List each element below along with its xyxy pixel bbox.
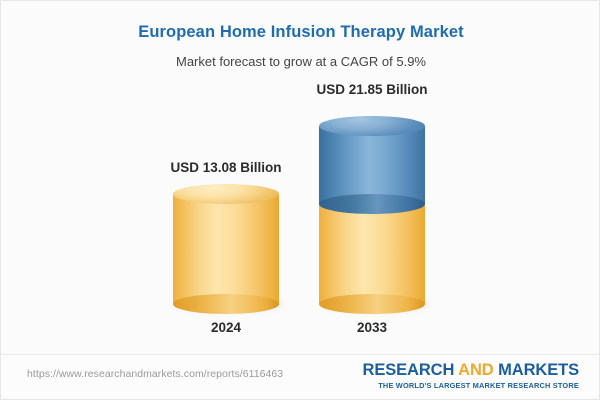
logo-wordmark: RESEARCH AND MARKETS bbox=[363, 361, 580, 380]
bar-segment-growth-2033[interactable] bbox=[319, 126, 425, 204]
logo-word-research: RESEARCH bbox=[363, 361, 455, 379]
bar-value-label-2024: USD 13.08 Billion bbox=[170, 160, 281, 175]
cylinder-bottom-ellipse bbox=[319, 194, 425, 214]
cylinder-top-ellipse bbox=[319, 116, 425, 136]
category-label-2033: 2033 bbox=[357, 320, 387, 335]
plot-area: USD 13.08 Billion 2024 USD 21.85 Billion bbox=[1, 1, 600, 356]
cylinder-bottom-ellipse bbox=[319, 294, 425, 314]
bar-value-label-2033: USD 21.85 Billion bbox=[316, 82, 427, 97]
brand-logo[interactable]: RESEARCH AND MARKETS THE WORLD'S LARGEST… bbox=[363, 361, 580, 390]
footer: https://www.researchandmarkets.com/repor… bbox=[1, 354, 600, 399]
cylinder-body bbox=[319, 204, 425, 304]
logo-word-and: AND bbox=[454, 361, 498, 379]
report-url[interactable]: https://www.researchandmarkets.com/repor… bbox=[27, 368, 283, 380]
chart-card: European Home Infusion Therapy Market Ma… bbox=[0, 0, 600, 400]
bar-segment-base-2033[interactable] bbox=[319, 204, 425, 304]
logo-word-markets: MARKETS bbox=[498, 361, 579, 379]
bar-segment-base-2024[interactable] bbox=[173, 194, 279, 304]
cylinder-top-ellipse bbox=[173, 184, 279, 204]
cylinder-body bbox=[173, 194, 279, 304]
cylinder-bottom-ellipse bbox=[173, 294, 279, 314]
logo-tagline: THE WORLD'S LARGEST MARKET RESEARCH STOR… bbox=[363, 381, 580, 390]
cylinder-body bbox=[319, 126, 425, 204]
category-label-2024: 2024 bbox=[211, 320, 241, 335]
